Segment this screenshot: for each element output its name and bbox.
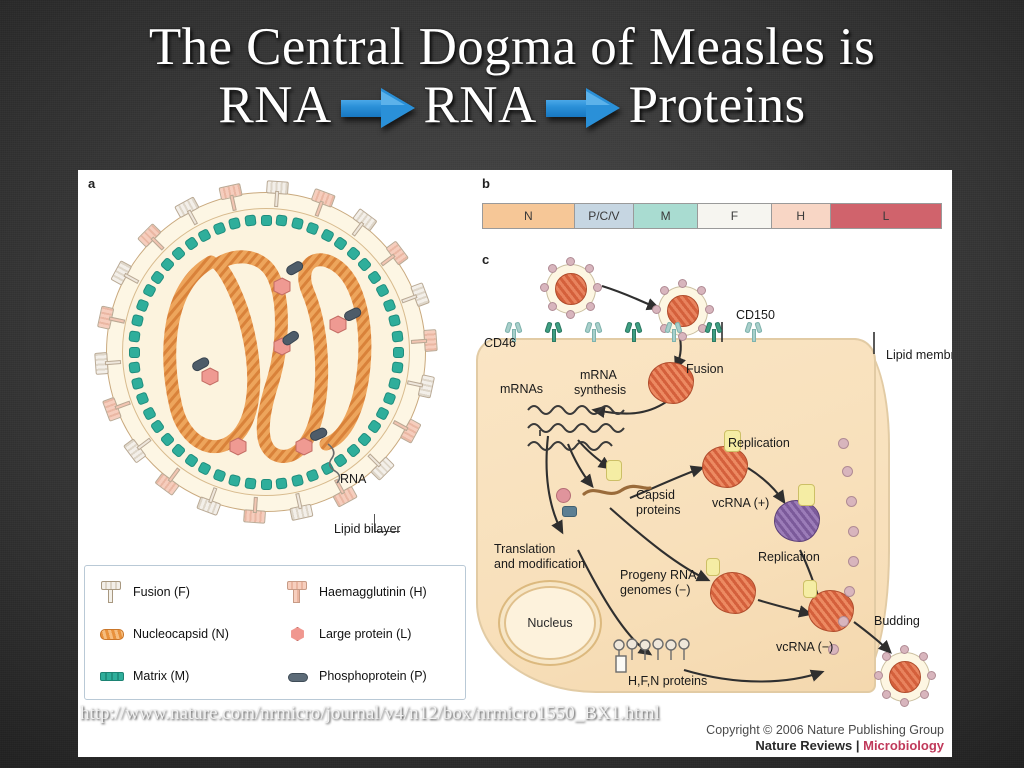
membrane-spike-icon xyxy=(842,466,853,477)
copyright-line-2: Nature Reviews | Microbiology xyxy=(706,738,944,753)
membrane-spike-icon xyxy=(848,556,859,567)
legend-item-haemagglutinin: Haemagglutinin (H) xyxy=(285,580,427,604)
label-replication-2: Replication xyxy=(758,550,820,564)
nucleocapsid-replication xyxy=(702,446,748,488)
haemagglutinin-icon xyxy=(285,580,311,604)
label-cd150: CD150 xyxy=(736,308,775,322)
gene-segment-p-c-v: P/C/V xyxy=(575,204,635,228)
title-rna-1: RNA xyxy=(218,76,331,134)
right-arrow-icon xyxy=(546,88,620,128)
title-line-2: RNA RNA Proteins xyxy=(0,76,1024,134)
cell-nucleus: Nucleus xyxy=(498,580,602,666)
cd46-receptor-icon xyxy=(586,322,601,342)
label-vcrna-minus: vcRNA (−) xyxy=(776,640,833,654)
label-progeny-line2: genomes (−) xyxy=(620,583,691,597)
membrane-spike-icon xyxy=(838,616,849,627)
nucleocapsid-coil xyxy=(106,192,426,512)
virion-diagram xyxy=(106,192,426,512)
nucleocapsid-icon xyxy=(99,622,125,646)
title-rna-2: RNA xyxy=(424,76,537,134)
progeny-nucleocapsid xyxy=(710,572,756,614)
figure-legend: Fusion (F) Haemagglutinin (H) Nucleocaps… xyxy=(84,565,466,700)
mrna-strands xyxy=(526,402,646,454)
cd150-receptor-icon xyxy=(626,322,641,342)
capsid-protein-box xyxy=(606,460,622,481)
label-mrna-synthesis-line1: mRNA xyxy=(580,368,617,382)
matrix-protein-icon xyxy=(99,664,125,688)
panel-c-letter: c xyxy=(482,252,489,267)
phosphoprotein-icon xyxy=(285,664,311,688)
label-budding: Budding xyxy=(874,614,920,628)
cd150-receptor-icon xyxy=(546,322,561,342)
panel-c: c xyxy=(470,250,952,757)
journal-name: Nature Reviews | xyxy=(755,738,863,753)
gene-segment-m: M xyxy=(634,204,698,228)
membrane-spike-icon xyxy=(848,526,859,537)
source-url-text: http://www.nature.com/nrmicro/journal/v4… xyxy=(80,702,680,726)
copyright-line-1: Copyright © 2006 Nature Publishing Group xyxy=(706,723,944,737)
gene-segment-n: N xyxy=(483,204,575,228)
cd46-receptor-icon xyxy=(666,322,681,342)
legend-item-matrix: Matrix (M) xyxy=(99,664,189,688)
label-mrna-synthesis-line2: synthesis xyxy=(574,383,626,397)
panel-b: b NP/C/VMFHL xyxy=(470,170,952,256)
figure-image: a xyxy=(78,170,952,757)
label-fusion: Fusion xyxy=(686,362,724,376)
virion-particle xyxy=(540,258,602,320)
legend-label: Fusion (F) xyxy=(133,585,190,599)
label-vcrna-plus: vcRNA (+) xyxy=(712,496,769,510)
modification-marker-2 xyxy=(562,506,577,517)
legend-item-fusion: Fusion (F) xyxy=(99,580,190,604)
large-protein-icon xyxy=(285,622,311,646)
virion-particle-budded xyxy=(874,646,936,708)
vcrna-plus-particle xyxy=(774,500,820,542)
label-hfn-proteins: H,F,N proteins xyxy=(628,674,707,688)
cd46-receptor-icon xyxy=(746,322,761,342)
panel-b-letter: b xyxy=(482,176,490,191)
label-capsid-line1: Capsid xyxy=(636,488,675,502)
label-mrnas: mRNAs xyxy=(500,382,543,396)
panel-a-letter: a xyxy=(88,176,95,191)
gene-segment-h: H xyxy=(772,204,832,228)
modification-marker-1 xyxy=(556,488,571,503)
virion-particle-attached xyxy=(652,280,714,342)
fusion-protein-icon xyxy=(99,580,125,604)
title-proteins: Proteins xyxy=(629,76,806,134)
label-rna: RNA xyxy=(340,472,366,486)
label-lipid-bilayer: Lipid bilayer xyxy=(334,522,401,536)
genome-map: NP/C/VMFHL xyxy=(482,203,942,229)
legend-item-large-protein: Large protein (L) xyxy=(285,622,411,646)
label-lipid-membrane: Lipid membrane xyxy=(886,348,952,362)
legend-item-nucleocapsid: Nucleocapsid (N) xyxy=(99,622,229,646)
label-progeny-line1: Progeny RNA xyxy=(620,568,696,582)
legend-label: Phosphoprotein (P) xyxy=(319,669,427,683)
nucleus-label: Nucleus xyxy=(527,616,572,630)
title-line-1: The Central Dogma of Measles is xyxy=(0,18,1024,76)
label-replication-1: Replication xyxy=(728,436,790,450)
hfn-protein-group xyxy=(612,638,698,674)
slide-title: The Central Dogma of Measles is RNA RNA … xyxy=(0,18,1024,134)
membrane-spike-icon xyxy=(838,438,849,449)
panel-a: a xyxy=(78,170,470,570)
label-cd46: CD46 xyxy=(484,336,516,350)
label-translation-line2: and modification xyxy=(494,557,585,571)
legend-label: Nucleocapsid (N) xyxy=(133,627,229,641)
legend-item-phosphoprotein: Phosphoprotein (P) xyxy=(285,664,427,688)
gene-segment-l: L xyxy=(831,204,941,228)
cd150-receptor-icon xyxy=(706,322,721,342)
membrane-spike-icon xyxy=(844,586,855,597)
legend-label: Haemagglutinin (H) xyxy=(319,585,427,599)
right-arrow-icon xyxy=(341,88,415,128)
legend-label: Large protein (L) xyxy=(319,627,411,641)
copyright-block: Copyright © 2006 Nature Publishing Group… xyxy=(706,723,944,753)
label-translation-line1: Translation xyxy=(494,542,555,556)
membrane-spike-icon xyxy=(846,496,857,507)
label-capsid-line2: proteins xyxy=(636,503,680,517)
journal-subtitle: Microbiology xyxy=(863,738,944,753)
gene-segment-f: F xyxy=(698,204,771,228)
legend-label: Matrix (M) xyxy=(133,669,189,683)
